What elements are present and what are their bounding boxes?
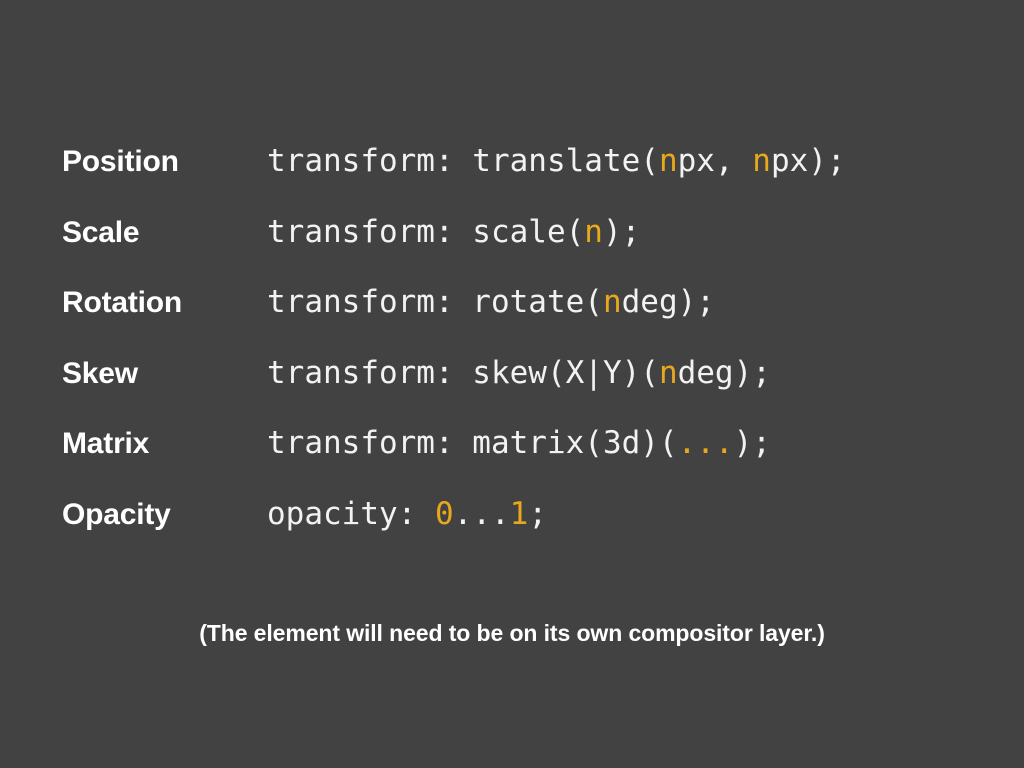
slide-canvas: Positiontransform: translate(npx, npx);S… xyxy=(0,0,1024,768)
property-label: Matrix xyxy=(62,409,267,480)
code-token: deg); xyxy=(622,284,715,320)
code-token-accent: n xyxy=(603,284,622,320)
property-code-snippet: transform: scale(n); xyxy=(267,197,982,268)
code-token: ... xyxy=(454,496,510,532)
code-token-accent: ... xyxy=(678,425,734,461)
property-code-snippet: transform: translate(npx, npx); xyxy=(267,126,982,197)
code-token: px); xyxy=(771,143,846,179)
property-code-snippet: transform: rotate(ndeg); xyxy=(267,267,982,338)
property-label: Opacity xyxy=(62,480,267,551)
code-token: ; xyxy=(528,496,547,532)
property-label: Rotation xyxy=(62,268,267,339)
code-token-accent: n xyxy=(584,214,603,250)
property-label: Skew xyxy=(62,339,267,410)
property-label: Scale xyxy=(62,198,267,269)
code-token: transform: scale( xyxy=(267,214,584,250)
property-code-snippet: transform: matrix(3d)(...); xyxy=(267,408,982,479)
slide-caption: (The element will need to be on its own … xyxy=(0,620,1024,647)
code-token-accent: 1 xyxy=(510,496,529,532)
code-token: ); xyxy=(734,425,771,461)
property-row: Positiontransform: translate(npx, npx); xyxy=(62,126,982,197)
property-row: Skewtransform: skew(X|Y)(ndeg); xyxy=(62,338,982,409)
code-token: transform: matrix(3d)( xyxy=(267,425,678,461)
property-row: Scaletransform: scale(n); xyxy=(62,197,982,268)
code-token: deg); xyxy=(678,355,771,391)
code-token-accent: n xyxy=(659,355,678,391)
property-table: Positiontransform: translate(npx, npx);S… xyxy=(62,126,982,549)
code-token: ); xyxy=(603,214,640,250)
property-row: Matrixtransform: matrix(3d)(...); xyxy=(62,408,982,479)
code-token-accent: n xyxy=(752,143,771,179)
property-code-snippet: transform: skew(X|Y)(ndeg); xyxy=(267,338,982,409)
code-token: transform: rotate( xyxy=(267,284,603,320)
code-token: opacity: xyxy=(267,496,435,532)
property-row: Opacityopacity: 0...1; xyxy=(62,479,982,550)
code-token: transform: translate( xyxy=(267,143,659,179)
code-token: px, xyxy=(678,143,753,179)
code-token-accent: n xyxy=(659,143,678,179)
property-code-snippet: opacity: 0...1; xyxy=(267,479,982,550)
code-token-accent: 0 xyxy=(435,496,454,532)
property-label: Position xyxy=(62,127,267,198)
property-row: Rotationtransform: rotate(ndeg); xyxy=(62,267,982,338)
code-token: transform: skew(X|Y)( xyxy=(267,355,659,391)
